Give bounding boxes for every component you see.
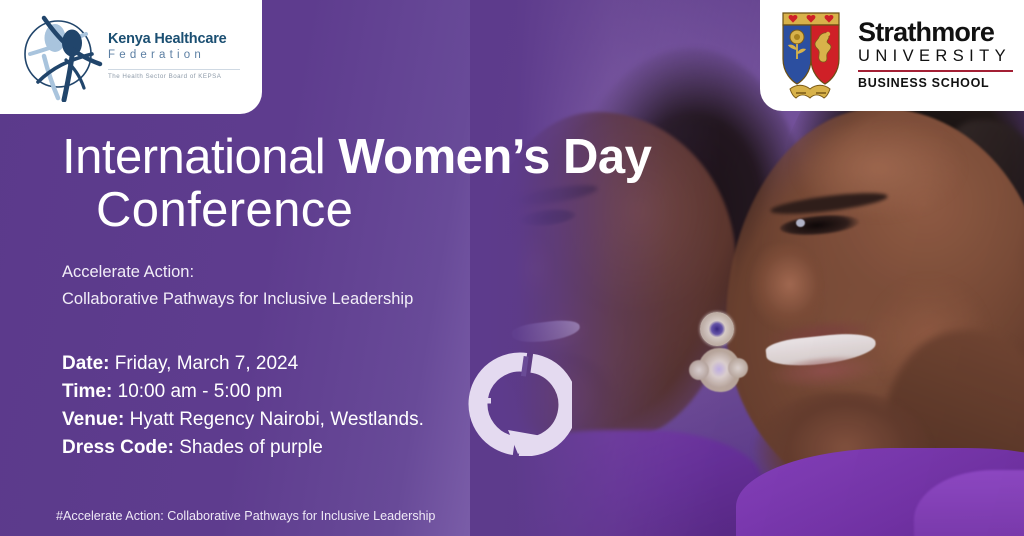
khf-tagline: The Health Sector Board of KEPSA xyxy=(108,73,252,80)
detail-label-venue: Venue: xyxy=(62,409,124,430)
hashtag-footer: #Accelerate Action: Collaborative Pathwa… xyxy=(56,509,435,523)
detail-row-venue: Venue: Hyatt Regency Nairobi, Westlands. xyxy=(62,406,424,434)
khf-name: Kenya Healthcare xyxy=(108,32,252,47)
accelerate-action-circular-arrow-icon xyxy=(468,352,572,456)
detail-value-date: Friday, March 7, 2024 xyxy=(110,353,299,374)
detail-value-dress-code: Shades of purple xyxy=(174,437,323,458)
woman-b-eye-highlight xyxy=(796,219,805,227)
kenya-healthcare-federation-logo: Kenya Healthcare Federation The Health S… xyxy=(0,0,262,114)
subtitle-line-1: Accelerate Action: xyxy=(62,259,413,286)
subtitle: Accelerate Action: Collaborative Pathway… xyxy=(62,259,413,312)
khf-figures-circle-icon xyxy=(14,10,106,102)
event-details: Date: Friday, March 7, 2024 Time: 10:00 … xyxy=(62,350,424,462)
title-international: International xyxy=(62,130,338,184)
detail-label-time: Time: xyxy=(62,381,112,402)
strathmore-name: Strathmore xyxy=(858,19,1013,46)
iwd-conference-banner: International Women’s Day Conference Acc… xyxy=(0,0,1024,536)
strathmore-business-school-label: BUSINESS SCHOOL xyxy=(858,76,1013,90)
detail-value-venue: Hyatt Regency Nairobi, Westlands. xyxy=(124,409,424,430)
detail-value-time: 10:00 am - 5:00 pm xyxy=(112,381,282,402)
subtitle-line-2: Collaborative Pathways for Inclusive Lea… xyxy=(62,286,413,313)
title-womens-day: Women’s Day xyxy=(338,130,651,184)
strathmore-divider xyxy=(858,70,1013,72)
page-title-line-1: International Women’s Day xyxy=(62,133,651,183)
detail-label-dress-code: Dress Code: xyxy=(62,437,174,458)
strathmore-university-business-school-logo: Strathmore UNIVERSITY BUSINESS SCHOOL xyxy=(760,0,1024,111)
detail-row-dress-code: Dress Code: Shades of purple xyxy=(62,434,424,462)
strathmore-coat-of-arms-icon xyxy=(774,7,848,103)
detail-row-time: Time: 10:00 am - 5:00 pm xyxy=(62,378,424,406)
detail-label-date: Date: xyxy=(62,353,110,374)
woman-b-earring-drop xyxy=(698,348,740,392)
strathmore-university-label: UNIVERSITY xyxy=(858,46,1013,67)
khf-subname: Federation xyxy=(108,47,252,64)
detail-row-date: Date: Friday, March 7, 2024 xyxy=(62,350,424,378)
khf-divider xyxy=(108,69,240,70)
strathmore-wordmark: Strathmore UNIVERSITY BUSINESS SCHOOL xyxy=(848,19,1013,90)
woman-b-earring-stud xyxy=(700,312,734,346)
khf-wordmark: Kenya Healthcare Federation The Health S… xyxy=(106,32,252,80)
page-title-line-2: Conference xyxy=(96,186,353,236)
